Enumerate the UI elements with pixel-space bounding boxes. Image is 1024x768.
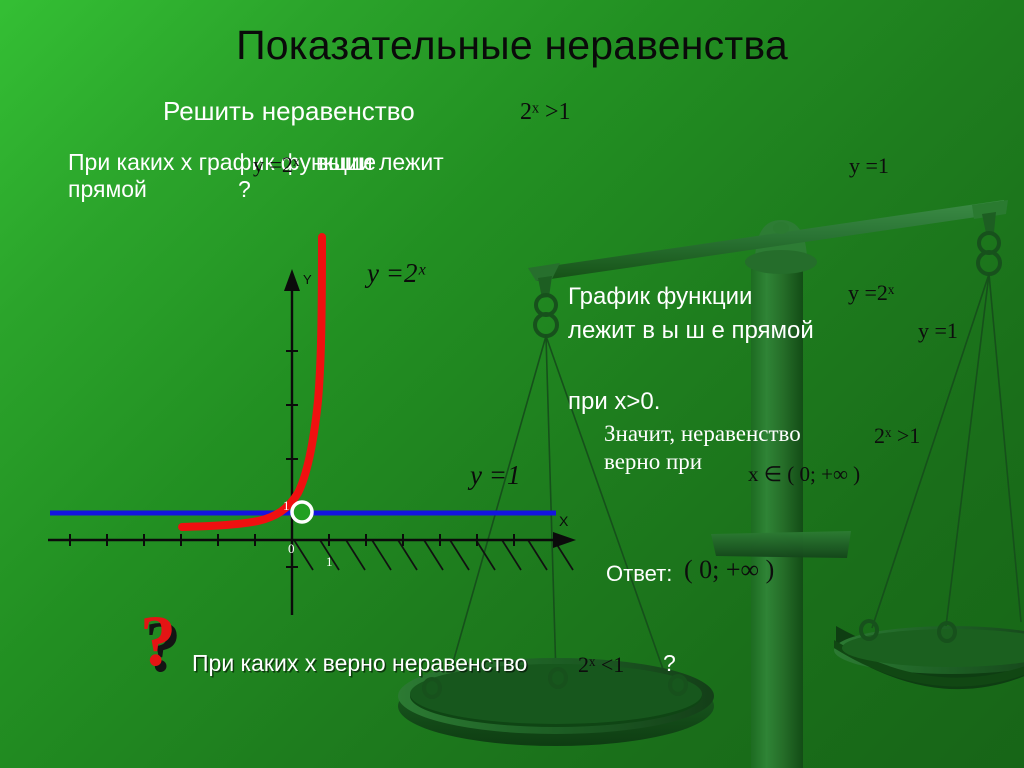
answer-label: Ответ: xyxy=(606,561,672,587)
conclusion-line-4: верно при xyxy=(604,449,702,475)
intersection-marker xyxy=(292,502,312,522)
function-graph: Y X xyxy=(0,215,600,615)
conclusion-line-1: График функции xyxy=(568,283,752,311)
x-axis xyxy=(48,532,576,548)
answer-value: ( 0; +∞ ) xyxy=(684,555,774,585)
bottom-question-expression: 2ˣ <1 xyxy=(578,652,624,678)
conclusion-interval: x ∈ ( 0; +∞ ) xyxy=(748,462,860,487)
conclusion-expression-2: y =1 xyxy=(918,318,958,344)
solution-hatching xyxy=(294,540,573,570)
question-expression-line: y =1 xyxy=(849,153,889,179)
x-axis-letter: X xyxy=(559,513,569,529)
question-expression-function: y =2ˣ xyxy=(253,152,299,178)
bottom-trailing-question-mark: ? xyxy=(663,650,676,677)
question-line-2: прямой xyxy=(68,176,147,203)
solve-task-label: Решить неравенство xyxy=(163,96,415,127)
origin-label-0: 0 xyxy=(288,541,295,557)
question-mark-inline: ? xyxy=(238,176,251,203)
right-hook-icon xyxy=(978,233,1000,274)
slide-canvas: Y X 1 0 1 y =2ˣ y =1 Показательные нерав… xyxy=(0,0,1024,768)
y-axis-letter: Y xyxy=(303,272,312,287)
right-pan xyxy=(834,621,1024,689)
conclusion-line-2: лежит в ы ш е прямой xyxy=(568,317,814,345)
curve-label-function: y =2ˣ xyxy=(367,258,425,289)
curve-y-equals-2-pow-x xyxy=(182,237,322,527)
conclusion-condition: при x>0. xyxy=(568,388,660,416)
conclusion-expression-3: 2ˣ >1 xyxy=(874,423,920,449)
question-word-above: выше xyxy=(316,149,376,176)
x-tick-label-1: 1 xyxy=(326,554,333,570)
conclusion-expression-1: y =2ˣ xyxy=(848,280,894,306)
conclusion-line-3: Значит, неравенство xyxy=(604,421,801,447)
page-title: Показательные неравенства xyxy=(0,22,1024,69)
y-tick-label-1: 1 xyxy=(283,498,290,514)
curve-label-line: y =1 xyxy=(470,460,520,491)
question-mark-icon: ? xyxy=(140,605,176,677)
solve-task-expression: 2ˣ >1 xyxy=(520,99,570,126)
bottom-question-text: При каких х верно неравенство xyxy=(192,650,527,677)
y-axis xyxy=(284,269,300,615)
